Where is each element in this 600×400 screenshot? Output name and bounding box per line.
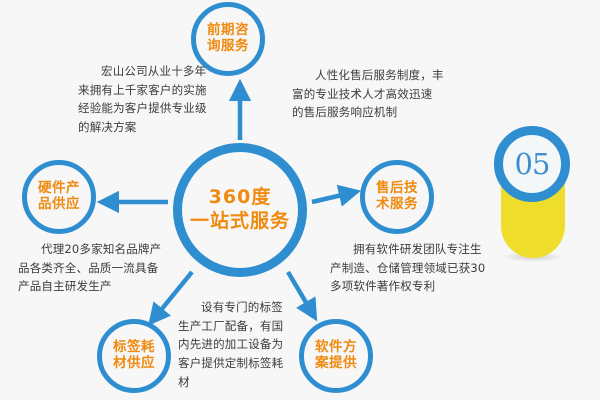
description-left: 代理20多家知名品牌产品各类齐全、品质一流具备产品自主研发生产 xyxy=(18,240,166,296)
step-badge: 05 xyxy=(494,126,570,258)
node-label: 售后技 术服务 xyxy=(376,181,418,213)
badge-number: 05 xyxy=(515,147,550,181)
node-label-consumable[interactable]: 标签耗 材供应 xyxy=(97,319,171,393)
arrow-to-after-sales xyxy=(312,192,355,202)
description-top-right: 人性化售后服务制度，丰富的专业技术人才高效迅速的售后服务响应机制 xyxy=(292,66,444,122)
node-label: 硬件产 品供应 xyxy=(38,181,80,213)
node-software-solution[interactable]: 软件方 案提供 xyxy=(299,319,373,393)
node-hardware-supply[interactable]: 硬件产 品供应 xyxy=(22,160,96,234)
diagram-canvas: 360度 一站式服务 前期咨 询服务 售后技 术服务 硬件产 品供应 标签耗 材… xyxy=(0,0,600,400)
description-bottom: 设有专门的标签生产工厂配备，有国内先进的加工设备为客户提供定制标签耗材 xyxy=(178,298,286,391)
node-label: 标签耗 材供应 xyxy=(113,340,155,372)
node-after-sales-tech[interactable]: 售后技 术服务 xyxy=(360,160,434,234)
hub-label: 360度 一站式服务 xyxy=(190,186,290,234)
badge-circle: 05 xyxy=(494,126,570,202)
description-right: 拥有软件研发团队专注生产制造、仓储管理领域已获30多项软件著作权专利 xyxy=(330,240,486,296)
node-label: 前期咨 询服务 xyxy=(207,23,249,55)
hub-node[interactable]: 360度 一站式服务 xyxy=(173,143,307,277)
arrow-to-software-solution xyxy=(288,272,314,316)
description-top-left: 宏山公司从业十多年来拥有上千家客户的实施经验能为客户提供专业级的解决方案 xyxy=(78,62,214,137)
node-label: 软件方 案提供 xyxy=(315,340,357,372)
